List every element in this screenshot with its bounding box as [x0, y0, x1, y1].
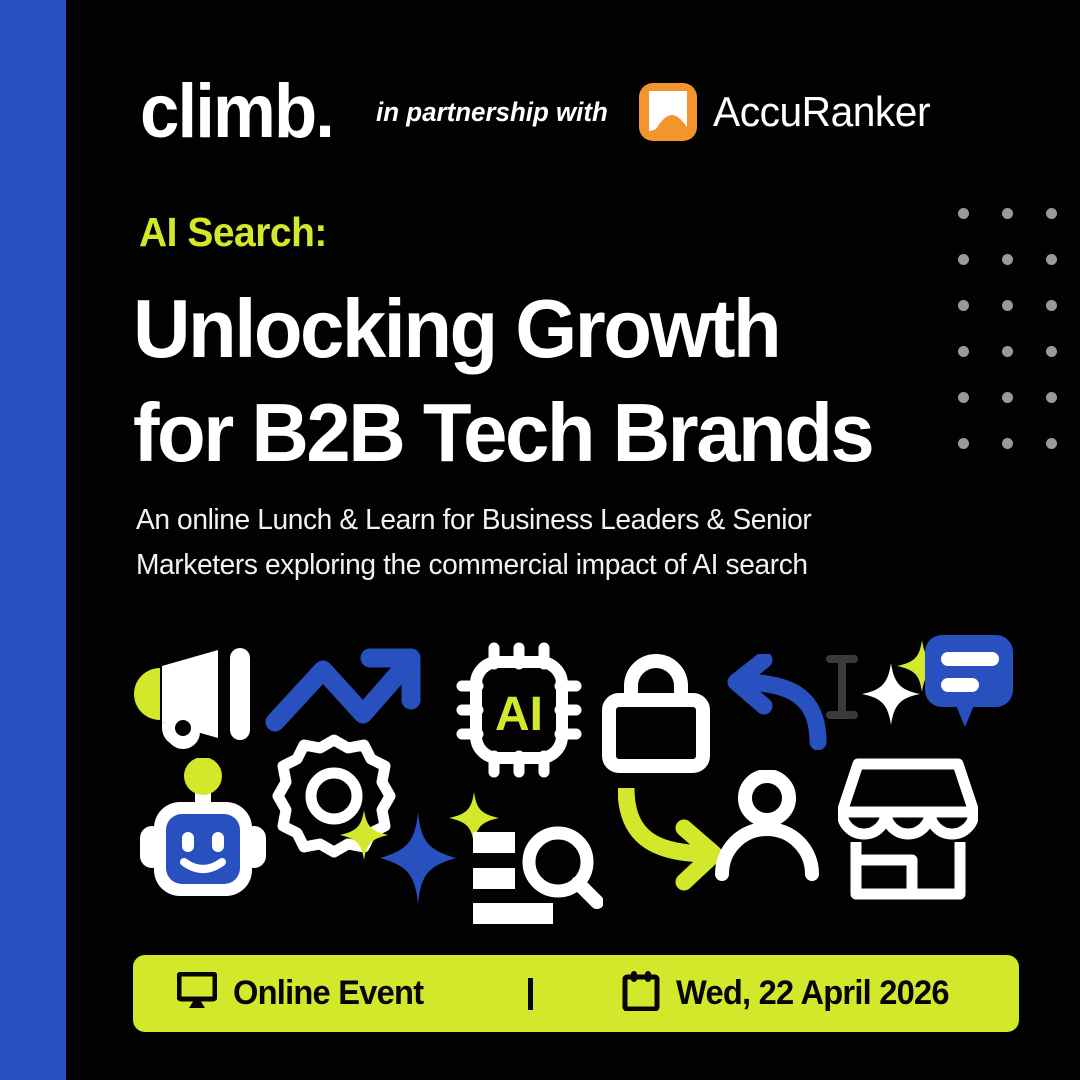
chat-bubble-icon [925, 635, 1015, 736]
arrow-curve-left-icon [718, 654, 830, 755]
arrow-curve-right-icon [618, 788, 726, 899]
left-accent-stripe [0, 0, 66, 1080]
climb-logo-text: climb. [140, 74, 333, 150]
trending-up-arrow-icon [265, 644, 425, 741]
headline-line-1: Unlocking Growth [133, 277, 930, 381]
event-date-label: Wed, 22 April 2026 [676, 974, 949, 1013]
event-poster: climb. in partnership with AccuRanker AI… [0, 0, 1080, 1080]
banner-separator [528, 978, 533, 1010]
event-date-group: Wed, 22 April 2026 [622, 971, 960, 1016]
subtitle: An online Lunch & Learn for Business Lea… [136, 498, 931, 588]
icon-collage: AI [118, 630, 998, 930]
partnership-label: in partnership with [376, 97, 608, 128]
page-title: Unlocking Growth for B2B Tech Brands [133, 277, 930, 485]
dot-grid-decoration [958, 208, 1080, 484]
subtitle-line-1: An online Lunch & Learn for Business Lea… [136, 498, 931, 543]
calendar-icon [622, 971, 660, 1016]
monitor-icon [177, 972, 217, 1015]
robot-icon [140, 758, 266, 905]
megaphone-icon [122, 646, 258, 757]
svg-text:AI: AI [495, 688, 543, 741]
event-format-group: Online Event [177, 972, 431, 1015]
person-icon [714, 770, 820, 887]
search-list-icon [473, 820, 603, 929]
event-format-label: Online Event [233, 974, 423, 1013]
storefront-icon [838, 756, 978, 905]
event-details-banner: Online Event Wed, 22 April 2026 [133, 955, 1019, 1032]
headline-line-2: for B2B Tech Brands [133, 381, 930, 485]
sparkle-blue-icon [380, 812, 456, 909]
subtitle-line-2: Marketers exploring the commercial impac… [136, 543, 931, 588]
text-cursor-icon [824, 654, 860, 725]
brand-header: climb. in partnership with AccuRanker [140, 66, 970, 158]
eyebrow-text: AI Search: [139, 209, 327, 255]
lock-icon [601, 652, 711, 779]
ai-chip-icon: AI [456, 642, 582, 783]
accuranker-mark-icon [639, 83, 697, 141]
accuranker-wordmark: AccuRanker [713, 88, 930, 136]
